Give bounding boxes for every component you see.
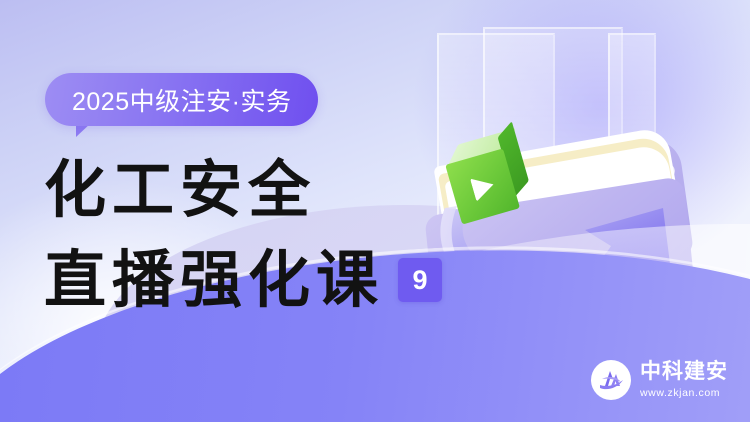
headline-block: 化工安全 直播强化课 9: [44, 150, 474, 320]
episode-badge: 9: [398, 258, 442, 302]
course-tag: 2025中级注安·实务: [45, 73, 318, 126]
headline-line-1: 化工安全: [44, 159, 316, 221]
headline-line-2-row: 直播强化课 9: [44, 240, 474, 320]
headline-line-1-row: 化工安全: [44, 150, 474, 230]
brand-logo[interactable]: 中科建安 www.zkjan.com: [591, 360, 728, 400]
course-tag-label: 2025中级注安·实务: [72, 82, 291, 118]
brand-name: 中科建安: [640, 361, 728, 383]
headline-line-2: 直播强化课: [44, 249, 384, 311]
mountain-arrow-icon: [591, 360, 631, 400]
brand-logo-text: 中科建安 www.zkjan.com: [640, 361, 728, 398]
brand-url: www.zkjan.com: [640, 387, 728, 399]
course-promo-banner: 2025中级注安·实务 化工安全 直播强化课 9 中科建安 www.zkjan.…: [0, 0, 750, 422]
